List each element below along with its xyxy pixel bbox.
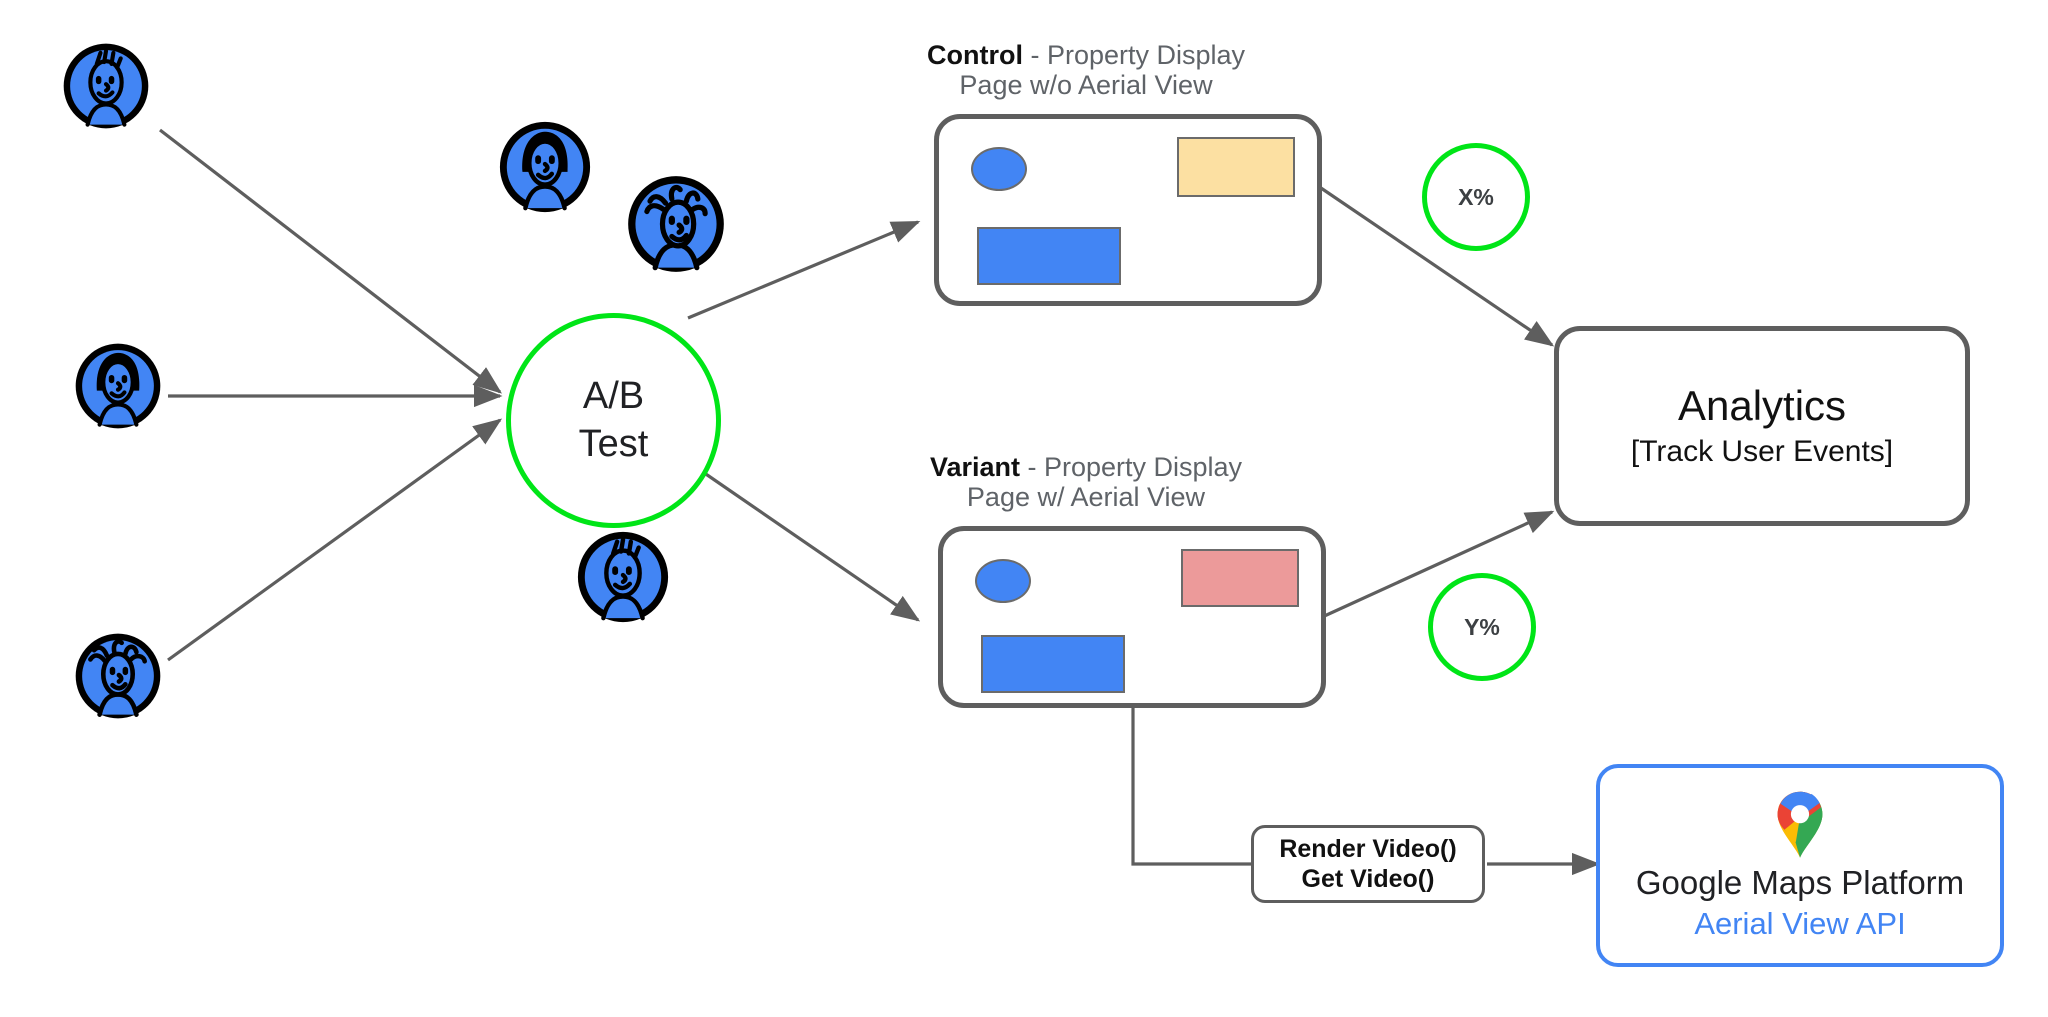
google-maps-platform-node[interactable]: Google Maps Platform Aerial View API <box>1596 764 2004 967</box>
user-avatar-icon <box>72 340 164 432</box>
ab-test-line-1: A/B <box>583 373 644 421</box>
control-caption-bold: Control <box>927 40 1023 70</box>
user-avatar-icon <box>60 40 152 132</box>
variant-caption-bold: Variant <box>930 452 1020 482</box>
variant-caption-line2: Page w/ Aerial View <box>856 482 1316 512</box>
control-avatar-placeholder <box>971 147 1027 191</box>
render-video-line-2: Get Video() <box>1302 864 1435 895</box>
edge-variant-to-rendervideo <box>1133 706 1253 864</box>
variant-conversion-value: Y% <box>1464 614 1500 641</box>
render-video-line-1: Render Video() <box>1279 834 1456 865</box>
control-page-card[interactable] <box>934 114 1322 306</box>
ab-test-line-2: Test <box>579 421 649 469</box>
analytics-subtitle: [Track User Events] <box>1631 434 1893 470</box>
user-avatar-4[interactable] <box>496 118 594 216</box>
variant-page-caption: Variant - Property Display Page w/ Aeria… <box>856 452 1316 512</box>
control-caption-rest: - Property Display <box>1023 40 1245 70</box>
variant-page-card[interactable] <box>938 526 1326 708</box>
variant-avatar-placeholder <box>975 559 1031 603</box>
edge-user3-to-abtest <box>168 420 500 660</box>
variant-caption-rest: - Property Display <box>1020 452 1242 482</box>
user-avatar-icon <box>624 172 728 276</box>
user-avatar-6[interactable] <box>574 528 672 626</box>
user-avatar-1[interactable] <box>60 40 152 132</box>
google-maps-platform-title: Google Maps Platform <box>1636 863 1964 903</box>
control-conversion-value: X% <box>1458 184 1494 211</box>
control-media-placeholder <box>977 227 1121 285</box>
edge-user1-to-abtest <box>160 130 500 392</box>
analytics-title: Analytics <box>1678 382 1846 430</box>
variant-banner-placeholder <box>1181 549 1299 607</box>
ab-test-node[interactable]: A/B Test <box>506 313 721 528</box>
variant-conversion-badge: Y% <box>1428 573 1536 681</box>
user-avatar-2[interactable] <box>72 340 164 432</box>
google-maps-pin-icon <box>1772 789 1828 859</box>
control-conversion-badge: X% <box>1422 143 1530 251</box>
user-avatar-icon <box>496 118 594 216</box>
user-avatar-5[interactable] <box>624 172 728 276</box>
user-avatar-icon <box>574 528 672 626</box>
control-page-caption: Control - Property Display Page w/o Aeri… <box>856 40 1316 100</box>
user-avatar-icon <box>72 630 164 722</box>
aerial-view-api-label: Aerial View API <box>1694 905 1905 942</box>
render-video-node[interactable]: Render Video() Get Video() <box>1251 825 1485 903</box>
control-banner-placeholder <box>1177 137 1295 197</box>
control-caption-line2: Page w/o Aerial View <box>856 70 1316 100</box>
diagram-canvas: A/B Test Control - Property Display Page… <box>0 0 2048 1017</box>
analytics-node[interactable]: Analytics [Track User Events] <box>1554 326 1970 526</box>
variant-media-placeholder <box>981 635 1125 693</box>
user-avatar-3[interactable] <box>72 630 164 722</box>
